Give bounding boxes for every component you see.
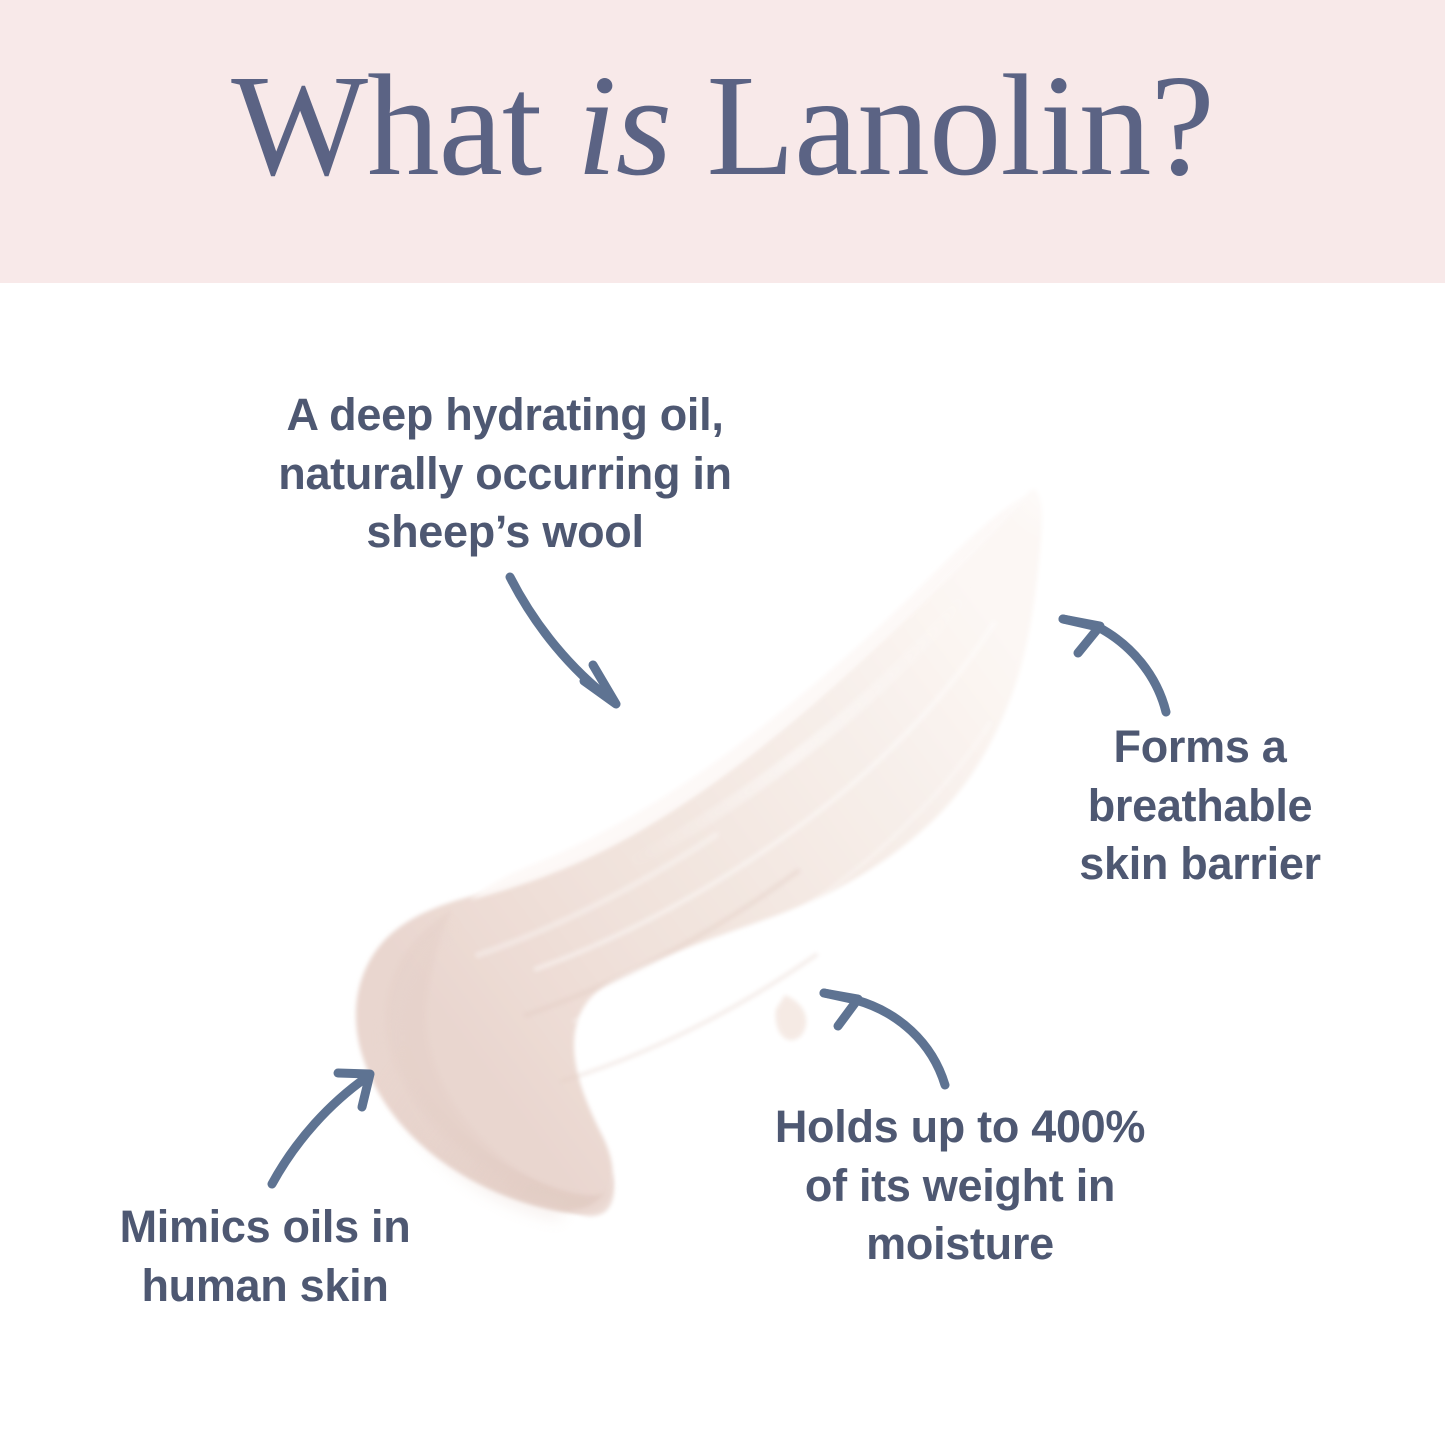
note-moisture: Holds up to 400% of its weight in moistu…: [705, 1098, 1215, 1274]
note-moisture-line-2: of its weight in: [705, 1157, 1215, 1216]
note-mimics-line-2: human skin: [80, 1257, 450, 1316]
infographic-canvas: What is Lanolin?: [0, 0, 1445, 1445]
note-moisture-line-1: Holds up to 400%: [705, 1098, 1215, 1157]
note-hydrating-line-2: naturally occurring in: [205, 445, 805, 504]
note-moisture-line-3: moisture: [705, 1215, 1215, 1274]
note-mimics-line-1: Mimics oils in: [80, 1198, 450, 1257]
page-title: What is Lanolin?: [0, 54, 1445, 199]
note-barrier-line-3: skin barrier: [1035, 835, 1365, 894]
note-mimics: Mimics oils in human skin: [80, 1198, 450, 1315]
note-hydrating: A deep hydrating oil, naturally occurrin…: [205, 386, 805, 562]
note-barrier-line-2: breathable: [1035, 777, 1365, 836]
page-title-emphasis: is: [576, 46, 671, 206]
page-title-prefix: What: [231, 46, 576, 206]
header-band: What is Lanolin?: [0, 0, 1445, 283]
note-barrier-line-1: Forms a: [1035, 718, 1365, 777]
note-hydrating-line-1: A deep hydrating oil,: [205, 386, 805, 445]
note-barrier: Forms a breathable skin barrier: [1035, 718, 1365, 894]
note-hydrating-line-3: sheep’s wool: [205, 503, 805, 562]
page-title-suffix: Lanolin?: [671, 46, 1214, 206]
